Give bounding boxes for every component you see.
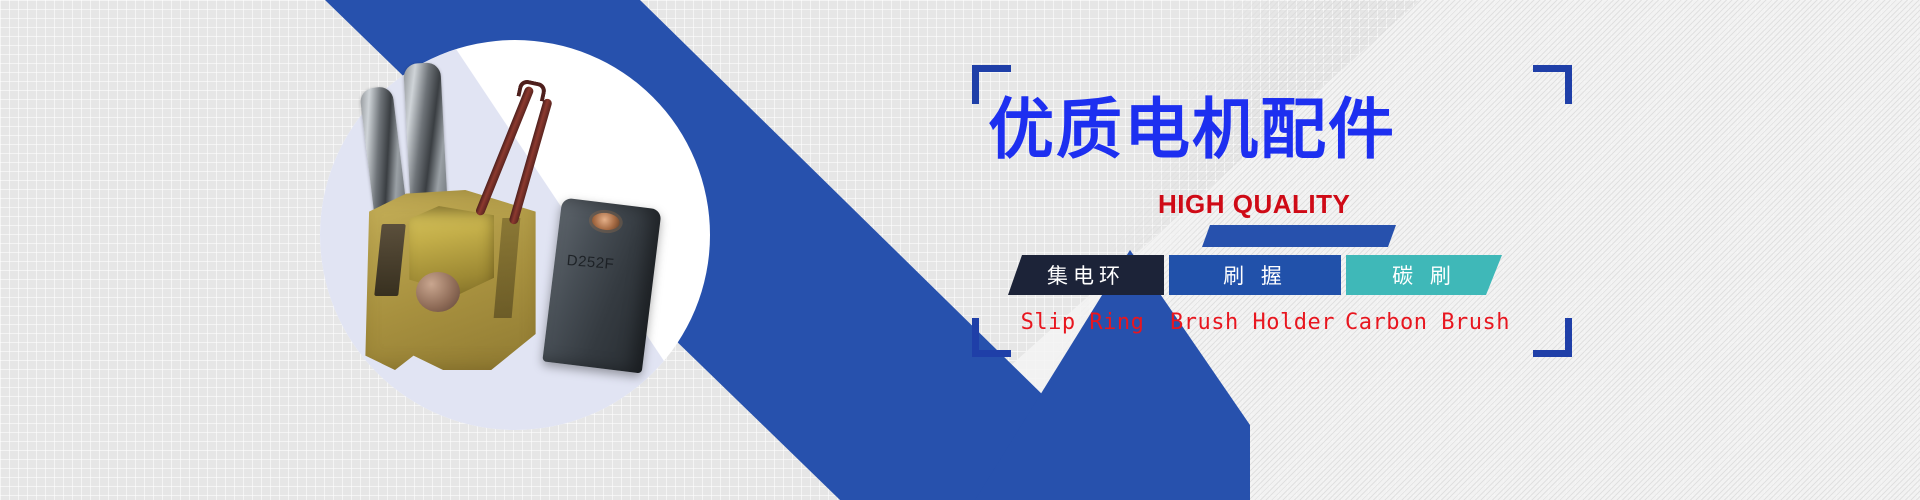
category-tabs: 集电环 刷 握 碳 刷	[1008, 255, 1502, 295]
promo-banner: D252F 优质电机配件 HIGH QUALITY 集电环 刷 握 碳 刷 Sl…	[0, 0, 1920, 500]
carbon-brush-terminal	[591, 211, 621, 231]
holder-roller	[416, 272, 460, 312]
category-english-labels: Slip Ring Brush Holder Carbon Brush	[1000, 310, 1515, 335]
tab-carbon-brush[interactable]: 碳 刷	[1346, 255, 1502, 295]
tab-slip-ring[interactable]: 集电环	[1008, 255, 1164, 295]
tab-brush-holder[interactable]: 刷 握	[1169, 255, 1341, 295]
label-slip-ring-en: Slip Ring	[1000, 310, 1165, 335]
carbon-brush-block: D252F	[542, 198, 661, 374]
page-title: 优质电机配件	[988, 97, 1396, 163]
corner-bracket-bottom-right-icon	[1533, 318, 1572, 357]
corner-bracket-top-right-icon	[1533, 65, 1572, 104]
label-carbon-brush-en: Carbon Brush	[1340, 310, 1515, 335]
content-block: 优质电机配件 HIGH QUALITY 集电环 刷 握 碳 刷 Slip Rin…	[960, 55, 1580, 365]
carbon-brush-label: D252F	[566, 252, 647, 276]
accent-bar	[1202, 225, 1396, 247]
label-brush-holder-en: Brush Holder	[1165, 310, 1340, 335]
page-subtitle: HIGH QUALITY	[1158, 189, 1350, 220]
product-photo: D252F	[330, 55, 710, 355]
